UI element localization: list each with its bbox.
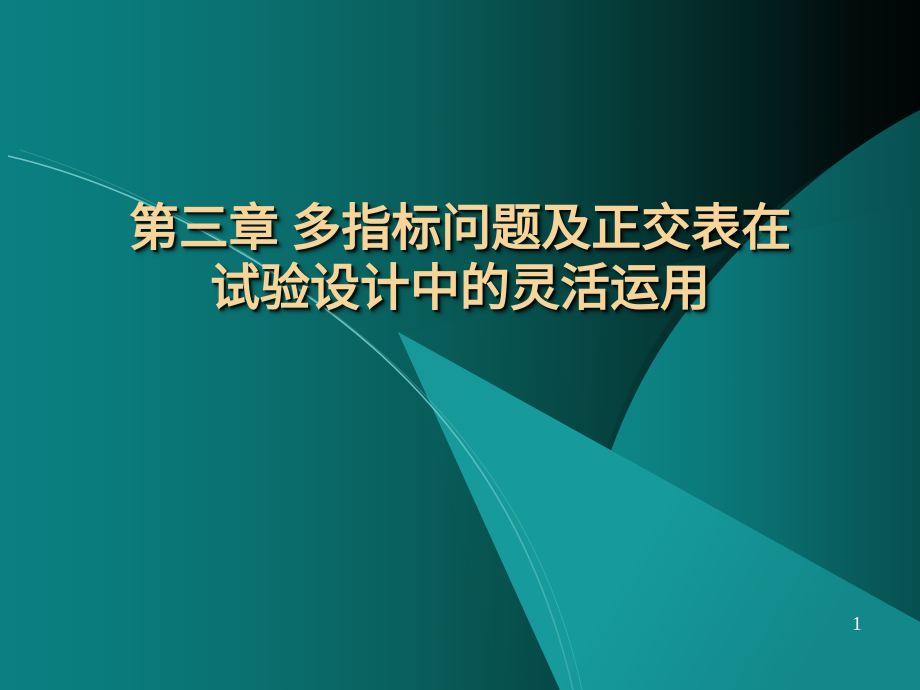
- title-line-2: 试验设计中的灵活运用: [0, 258, 920, 318]
- title-line-1: 第三章 多指标问题及正交表在: [0, 198, 920, 258]
- presentation-slide: 第三章 多指标问题及正交表在 试验设计中的灵活运用 1: [0, 0, 920, 690]
- accent-wedge: [398, 332, 920, 690]
- background-artwork: [0, 0, 920, 690]
- arc-light-region: [575, 110, 920, 690]
- slide-number: 1: [845, 612, 869, 636]
- background-shapes-svg: [0, 0, 920, 690]
- accent-wedge-fill: [398, 332, 920, 690]
- slide-title: 第三章 多指标问题及正交表在 试验设计中的灵活运用: [0, 198, 920, 318]
